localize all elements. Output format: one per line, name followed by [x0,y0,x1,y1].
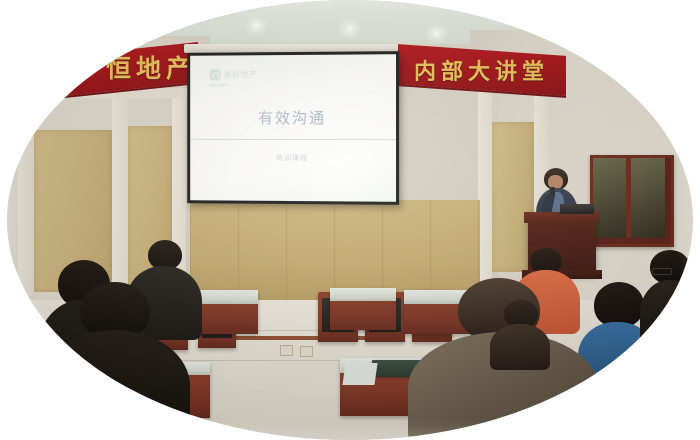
attendee-front-left [40,282,190,440]
window [590,155,674,247]
conference-room-scene: 恒地产 内部大讲堂 美好地产 MEIHAO 有效沟通 培训课程 [0,0,700,440]
window-pane [631,158,665,238]
desk [196,290,258,334]
slide-logo-text: 美好地产 [224,69,258,80]
projection-screen-surface: 美好地产 MEIHAO 有效沟通 培训课程 [190,54,396,202]
paper-sheet [342,363,377,385]
glasses-icon [652,268,672,275]
attendee-near-podium [490,300,550,370]
desk-top [330,288,396,301]
window-mullion [626,158,631,238]
banner-right-text: 内部大讲堂 [414,54,549,86]
slide-logo: 美好地产 [210,69,257,80]
banner-left-text: 恒地产 [106,49,196,85]
wall-pilaster [18,96,34,296]
downlight-icon [432,30,441,37]
wall-outlet [280,345,293,356]
company-logo-icon [210,69,221,80]
projection-screen: 美好地产 MEIHAO 有效沟通 培训课程 [187,51,399,205]
attendee-clothing [490,324,550,370]
slide-title: 有效沟通 [190,107,396,128]
slide-subtitle: 培训课程 [190,153,396,164]
oval-masked-photo: 恒地产 内部大讲堂 美好地产 MEIHAO 有效沟通 培训课程 [0,0,700,440]
desk [330,288,396,330]
attendee-hair [650,250,690,284]
laptop [560,204,594,214]
downlight-icon [345,25,354,32]
photo-frame: 恒地产 内部大讲堂 美好地产 MEIHAO 有效沟通 培训课程 [0,0,700,440]
attendee-clothing [640,280,700,350]
slide-divider [190,139,396,140]
window-pane [593,158,627,238]
wall-pilaster [478,88,492,293]
attendee-clothing [40,330,190,440]
downlight-icon [252,22,261,29]
slide-logo-subtext: MEIHAO [210,82,228,87]
attendee-glasses [640,250,700,350]
desk-top [196,290,258,304]
wall-outlet [300,346,313,357]
